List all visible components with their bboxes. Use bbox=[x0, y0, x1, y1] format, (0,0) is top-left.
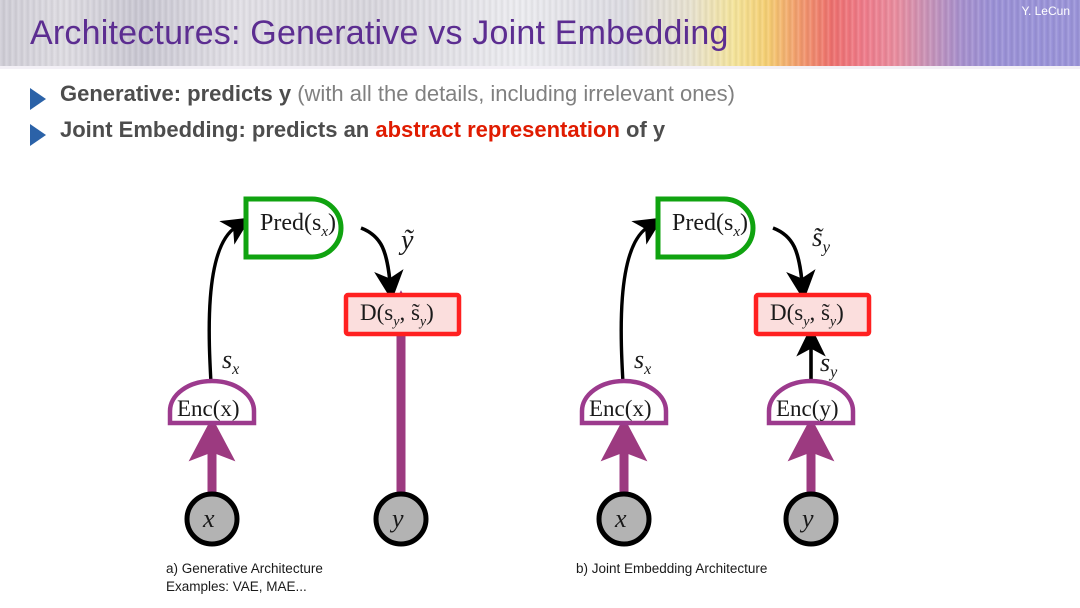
bullet-tail-joint: of y bbox=[620, 117, 665, 142]
bullet-text-joint-embedding: Joint Embedding: predicts an abstract re… bbox=[60, 116, 665, 144]
cost-module-label: D(sy, s̃y) bbox=[770, 300, 844, 331]
encoder-x-label: Enc(x) bbox=[589, 396, 652, 422]
bullet-item-generative: Generative: predicts y (with all the det… bbox=[0, 80, 1080, 110]
predictor-label: Pred(sx) bbox=[672, 210, 748, 241]
edge-label-sx: sx bbox=[222, 345, 239, 379]
bullet-text-generative: Generative: predicts y (with all the det… bbox=[60, 80, 735, 108]
bullet-highlight-joint: abstract representation bbox=[375, 117, 620, 142]
target-node-y-label: y bbox=[392, 504, 404, 534]
input-node-x-label: x bbox=[615, 504, 627, 534]
edge-label-sy-tilde: s̃y bbox=[812, 222, 830, 257]
bullet-strong-joint: Joint Embedding: predicts an bbox=[60, 117, 375, 142]
architecture-diagrams: Pred(sx) D(sy, s̃y) Enc(x) x y sx ỹ Pre… bbox=[0, 170, 1080, 608]
slide-header: Architectures: Generative vs Joint Embed… bbox=[0, 0, 1080, 68]
predictor-label: Pred(sx) bbox=[260, 210, 336, 241]
bullet-rest-generative: (with all the details, including irrelev… bbox=[291, 81, 735, 106]
triangle-right-bullet-icon bbox=[30, 124, 46, 146]
encoder-x-label: Enc(x) bbox=[177, 396, 240, 422]
cost-module-label: D(sy, s̃y) bbox=[360, 300, 434, 331]
bullet-strong-generative: Generative: predicts y bbox=[60, 81, 291, 106]
caption-generative: a) Generative Architecture Examples: VAE… bbox=[166, 560, 323, 596]
encoder-y-label: Enc(y) bbox=[776, 396, 839, 422]
page-title: Architectures: Generative vs Joint Embed… bbox=[30, 14, 729, 53]
edge-label-sy: sy bbox=[820, 348, 837, 382]
arrow-predictor-to-cost bbox=[773, 228, 802, 282]
arrow-predictor-to-cost bbox=[361, 228, 390, 282]
header-divider bbox=[0, 66, 1080, 69]
diagram-canvas bbox=[0, 170, 1080, 608]
author-credit: Y. LeCun bbox=[1022, 4, 1071, 18]
bullet-list: Generative: predicts y (with all the det… bbox=[0, 80, 1080, 152]
generative-architecture-group bbox=[170, 199, 459, 544]
input-node-x-label: x bbox=[203, 504, 215, 534]
edge-label-y-tilde: ỹ bbox=[401, 225, 413, 257]
edge-label-sx: sx bbox=[634, 345, 651, 379]
caption-joint-embedding: b) Joint Embedding Architecture bbox=[576, 560, 767, 578]
triangle-right-bullet-icon bbox=[30, 88, 46, 110]
target-node-y-label: y bbox=[802, 504, 814, 534]
bullet-item-joint-embedding: Joint Embedding: predicts an abstract re… bbox=[0, 116, 1080, 146]
